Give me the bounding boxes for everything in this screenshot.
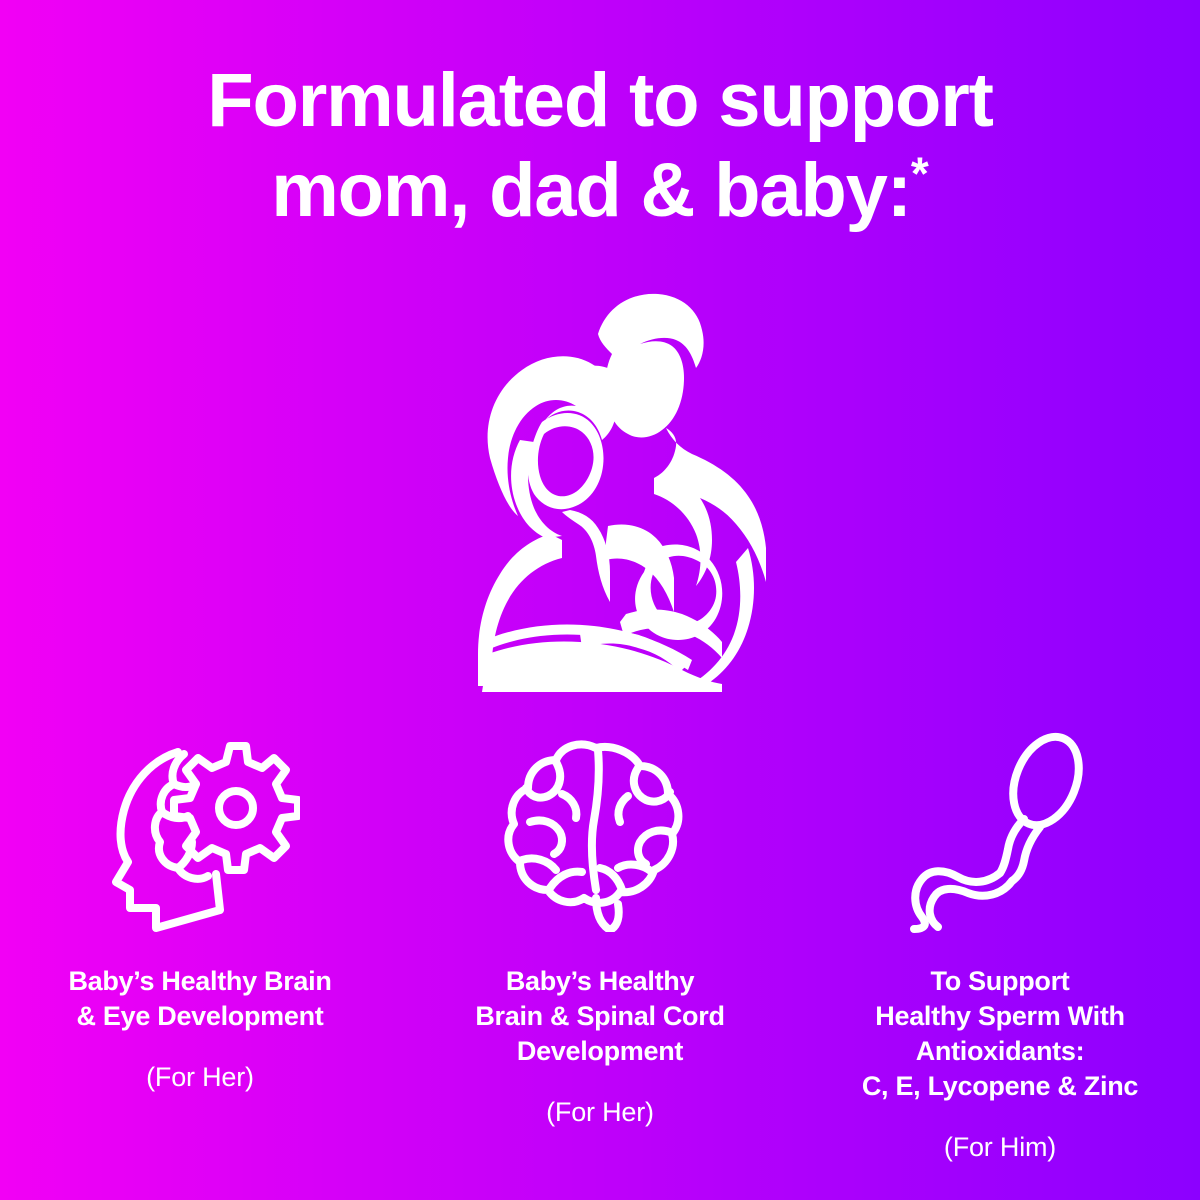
benefit-column-3: To Support Healthy Sperm With Antioxidan… bbox=[800, 726, 1200, 1165]
benefit-title-1-line-2: & Eye Development bbox=[12, 999, 388, 1034]
headline-line-1: Formulated to support bbox=[60, 56, 1140, 146]
benefit-columns: Baby’s Healthy Brain & Eye Development (… bbox=[0, 726, 1200, 1165]
benefit-caption-2: Baby’s Healthy Brain & Spinal Cord Devel… bbox=[400, 938, 800, 1130]
footnote-asterisk: * bbox=[911, 147, 929, 199]
benefit-title-3-line-1: To Support bbox=[812, 964, 1188, 999]
head-with-gear-icon bbox=[100, 726, 300, 938]
benefit-title-2: Baby’s Healthy Brain & Spinal Cord Devel… bbox=[412, 964, 788, 1069]
benefit-title-3: To Support Healthy Sperm With Antioxidan… bbox=[812, 964, 1188, 1104]
benefit-audience-2: (For Her) bbox=[412, 1095, 788, 1130]
benefit-audience-1: (For Her) bbox=[12, 1060, 388, 1095]
headline-line-2-text: mom, dad & baby: bbox=[271, 148, 911, 233]
benefit-title-3-line-3: Antioxidants: bbox=[812, 1034, 1188, 1069]
benefit-column-1: Baby’s Healthy Brain & Eye Development (… bbox=[0, 726, 400, 1095]
brain-icon bbox=[500, 726, 700, 938]
benefit-title-2-line-3: Development bbox=[412, 1034, 788, 1069]
sperm-icon bbox=[900, 726, 1100, 938]
family-illustration bbox=[430, 282, 770, 692]
benefit-title-3-line-2: Healthy Sperm With bbox=[812, 999, 1188, 1034]
benefit-title-1-line-1: Baby’s Healthy Brain bbox=[12, 964, 388, 999]
benefit-title-1: Baby’s Healthy Brain & Eye Development bbox=[12, 964, 388, 1034]
benefit-caption-3: To Support Healthy Sperm With Antioxidan… bbox=[800, 938, 1200, 1165]
benefit-caption-1: Baby’s Healthy Brain & Eye Development (… bbox=[0, 938, 400, 1095]
page-headline: Formulated to support mom, dad & baby:* bbox=[0, 56, 1200, 235]
benefit-title-2-line-1: Baby’s Healthy bbox=[412, 964, 788, 999]
benefit-audience-3: (For Him) bbox=[812, 1130, 1188, 1165]
benefit-title-3-line-4: C, E, Lycopene & Zinc bbox=[812, 1069, 1188, 1104]
benefit-title-2-line-2: Brain & Spinal Cord bbox=[412, 999, 788, 1034]
benefit-column-2: Baby’s Healthy Brain & Spinal Cord Devel… bbox=[400, 726, 800, 1130]
headline-line-2: mom, dad & baby:* bbox=[60, 146, 1140, 236]
